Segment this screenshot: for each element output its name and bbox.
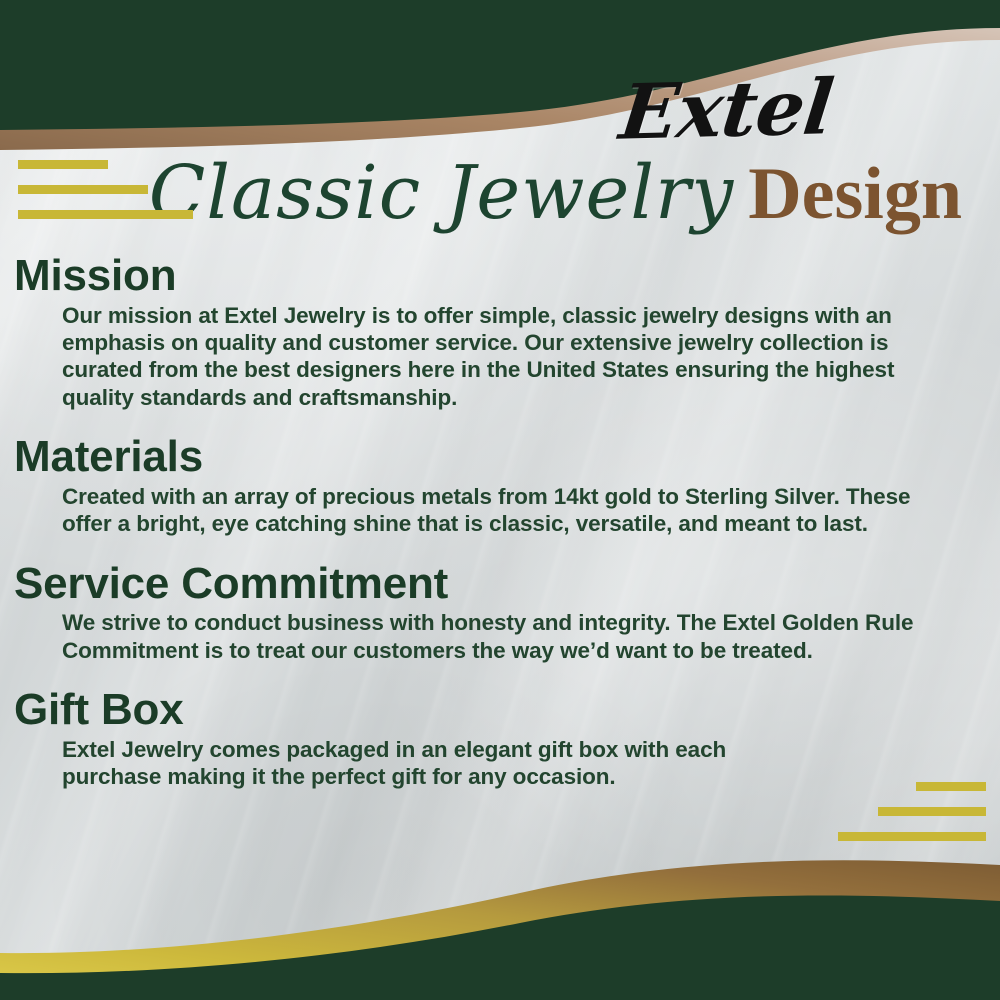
decoration-lines-bottom-right (838, 782, 986, 857)
top-wave-decoration (0, 0, 1000, 170)
content-sections: Mission Our mission at Extel Jewelry is … (0, 252, 1000, 790)
section-service-commitment: Service Commitment We strive to conduct … (0, 560, 1000, 664)
title-accent-text: Design (748, 153, 962, 235)
section-body-gift-box: Extel Jewelry comes packaged in an elega… (62, 736, 780, 791)
section-body-service-commitment: We strive to conduct business with hones… (62, 609, 966, 664)
brand-script-logo: Extel (617, 69, 837, 150)
poster-canvas: Extel Classic JewelryDesign Mission Our … (0, 0, 1000, 1000)
section-heading-materials: Materials (14, 433, 1000, 481)
decoration-line (18, 160, 108, 169)
section-body-mission: Our mission at Extel Jewelry is to offer… (62, 302, 966, 412)
section-materials: Materials Created with an array of preci… (0, 433, 1000, 537)
decoration-line (18, 210, 193, 219)
section-heading-gift-box: Gift Box (14, 686, 1000, 734)
section-body-materials: Created with an array of precious metals… (62, 483, 966, 538)
bottom-wave-decoration (0, 835, 1000, 1000)
decoration-line (18, 185, 148, 194)
title-main-text: Classic Jewelry (149, 150, 734, 236)
decoration-lines-top-left (18, 160, 193, 235)
decoration-line (838, 832, 986, 841)
section-heading-mission: Mission (14, 252, 1000, 300)
section-heading-service-commitment: Service Commitment (14, 560, 1000, 608)
section-mission: Mission Our mission at Extel Jewelry is … (0, 252, 1000, 411)
section-gift-box: Gift Box Extel Jewelry comes packaged in… (0, 686, 1000, 790)
decoration-line (878, 807, 986, 816)
